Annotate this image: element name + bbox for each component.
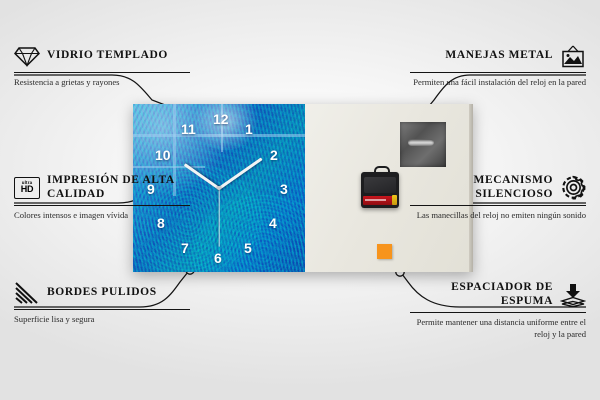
numeral-10: 10 <box>155 148 171 162</box>
mechanism-hook <box>374 166 390 176</box>
feature-impresion-alta-calidad: ultra HD IMPRESIÓN DE ALTA CALIDAD Color… <box>14 174 190 222</box>
hd-main-text: HD <box>21 185 33 194</box>
feature-title: MANEJAS METAL <box>445 49 553 63</box>
numeral-11: 11 <box>181 122 196 136</box>
numeral-6: 6 <box>214 251 222 265</box>
hanger-slot <box>408 139 434 146</box>
feature-vidrio-templado: VIDRIO TEMPLADO Resistencia a grietas y … <box>14 44 190 89</box>
feature-head: ESPACIADOR DE ESPUMA <box>410 281 586 308</box>
feature-divider <box>410 312 586 313</box>
metal-hanger-icon <box>400 122 446 167</box>
feature-subtitle: Permite mantener una distancia uniforme … <box>410 317 586 340</box>
numeral-2: 2 <box>270 148 278 162</box>
battery-indicator <box>392 195 397 205</box>
numeral-3: 3 <box>280 182 288 196</box>
numeral-4: 4 <box>269 216 277 230</box>
feature-subtitle: Las manecillas del reloj no emiten ningú… <box>410 210 586 222</box>
feature-subtitle: Superficie lisa y segura <box>14 314 190 326</box>
gear-icon <box>560 176 586 200</box>
picture-hanger-icon <box>560 44 586 68</box>
numeral-1: 1 <box>245 122 253 136</box>
numeral-7: 7 <box>181 241 189 255</box>
ultra-hd-icon: ultra HD <box>14 176 40 200</box>
feature-divider <box>410 205 586 206</box>
mechanism-panel <box>364 177 396 193</box>
numeral-12: 12 <box>213 112 229 126</box>
feature-divider <box>14 309 190 310</box>
clock-second-hand <box>218 189 219 247</box>
diamond-icon <box>14 44 40 68</box>
feature-subtitle: Permiten una fácil instalación del reloj… <box>410 77 586 89</box>
feature-manejas-metal: MANEJAS METAL Permiten una fácil instala… <box>410 44 586 89</box>
feature-head: VIDRIO TEMPLADO <box>14 44 190 68</box>
diagonal-stripes-icon <box>14 281 40 305</box>
clock-center-pin <box>217 186 221 190</box>
feature-mecanismo-silencioso: MECANISMO SILENCIOSO Las manecillas del … <box>410 174 586 222</box>
feature-subtitle: Colores intensos e imagen vívida <box>14 210 190 222</box>
feature-bordes-pulidos: BORDES PULIDOS Superficie lisa y segura <box>14 281 190 326</box>
foam-spacer-square <box>377 244 392 259</box>
feature-title: IMPRESIÓN DE ALTA CALIDAD <box>47 174 190 201</box>
numeral-5: 5 <box>244 241 252 255</box>
hd-box: ultra HD <box>14 177 40 199</box>
feature-divider <box>410 72 586 73</box>
feature-title: BORDES PULIDOS <box>47 286 157 300</box>
feature-subtitle: Resistencia a grietas y rayones <box>14 77 190 89</box>
feature-title: VIDRIO TEMPLADO <box>47 49 168 63</box>
feature-title: ESPACIADOR DE ESPUMA <box>410 281 553 308</box>
down-arrow-layers-icon <box>560 283 586 307</box>
product-infographic: 12 1 2 3 4 5 6 7 8 9 10 11 <box>0 0 600 400</box>
clock-mechanism-box <box>361 172 399 208</box>
feature-head: MANEJAS METAL <box>410 44 586 68</box>
feature-head: ultra HD IMPRESIÓN DE ALTA CALIDAD <box>14 174 190 201</box>
feature-head: BORDES PULIDOS <box>14 281 190 305</box>
label-text-bar <box>365 199 386 201</box>
feature-divider <box>14 72 190 73</box>
feature-divider <box>14 205 190 206</box>
feature-title: MECANISMO SILENCIOSO <box>410 174 553 201</box>
feature-espaciador-espuma: ESPACIADOR DE ESPUMA Permite mantener un… <box>410 281 586 341</box>
feature-head: MECANISMO SILENCIOSO <box>410 174 586 201</box>
